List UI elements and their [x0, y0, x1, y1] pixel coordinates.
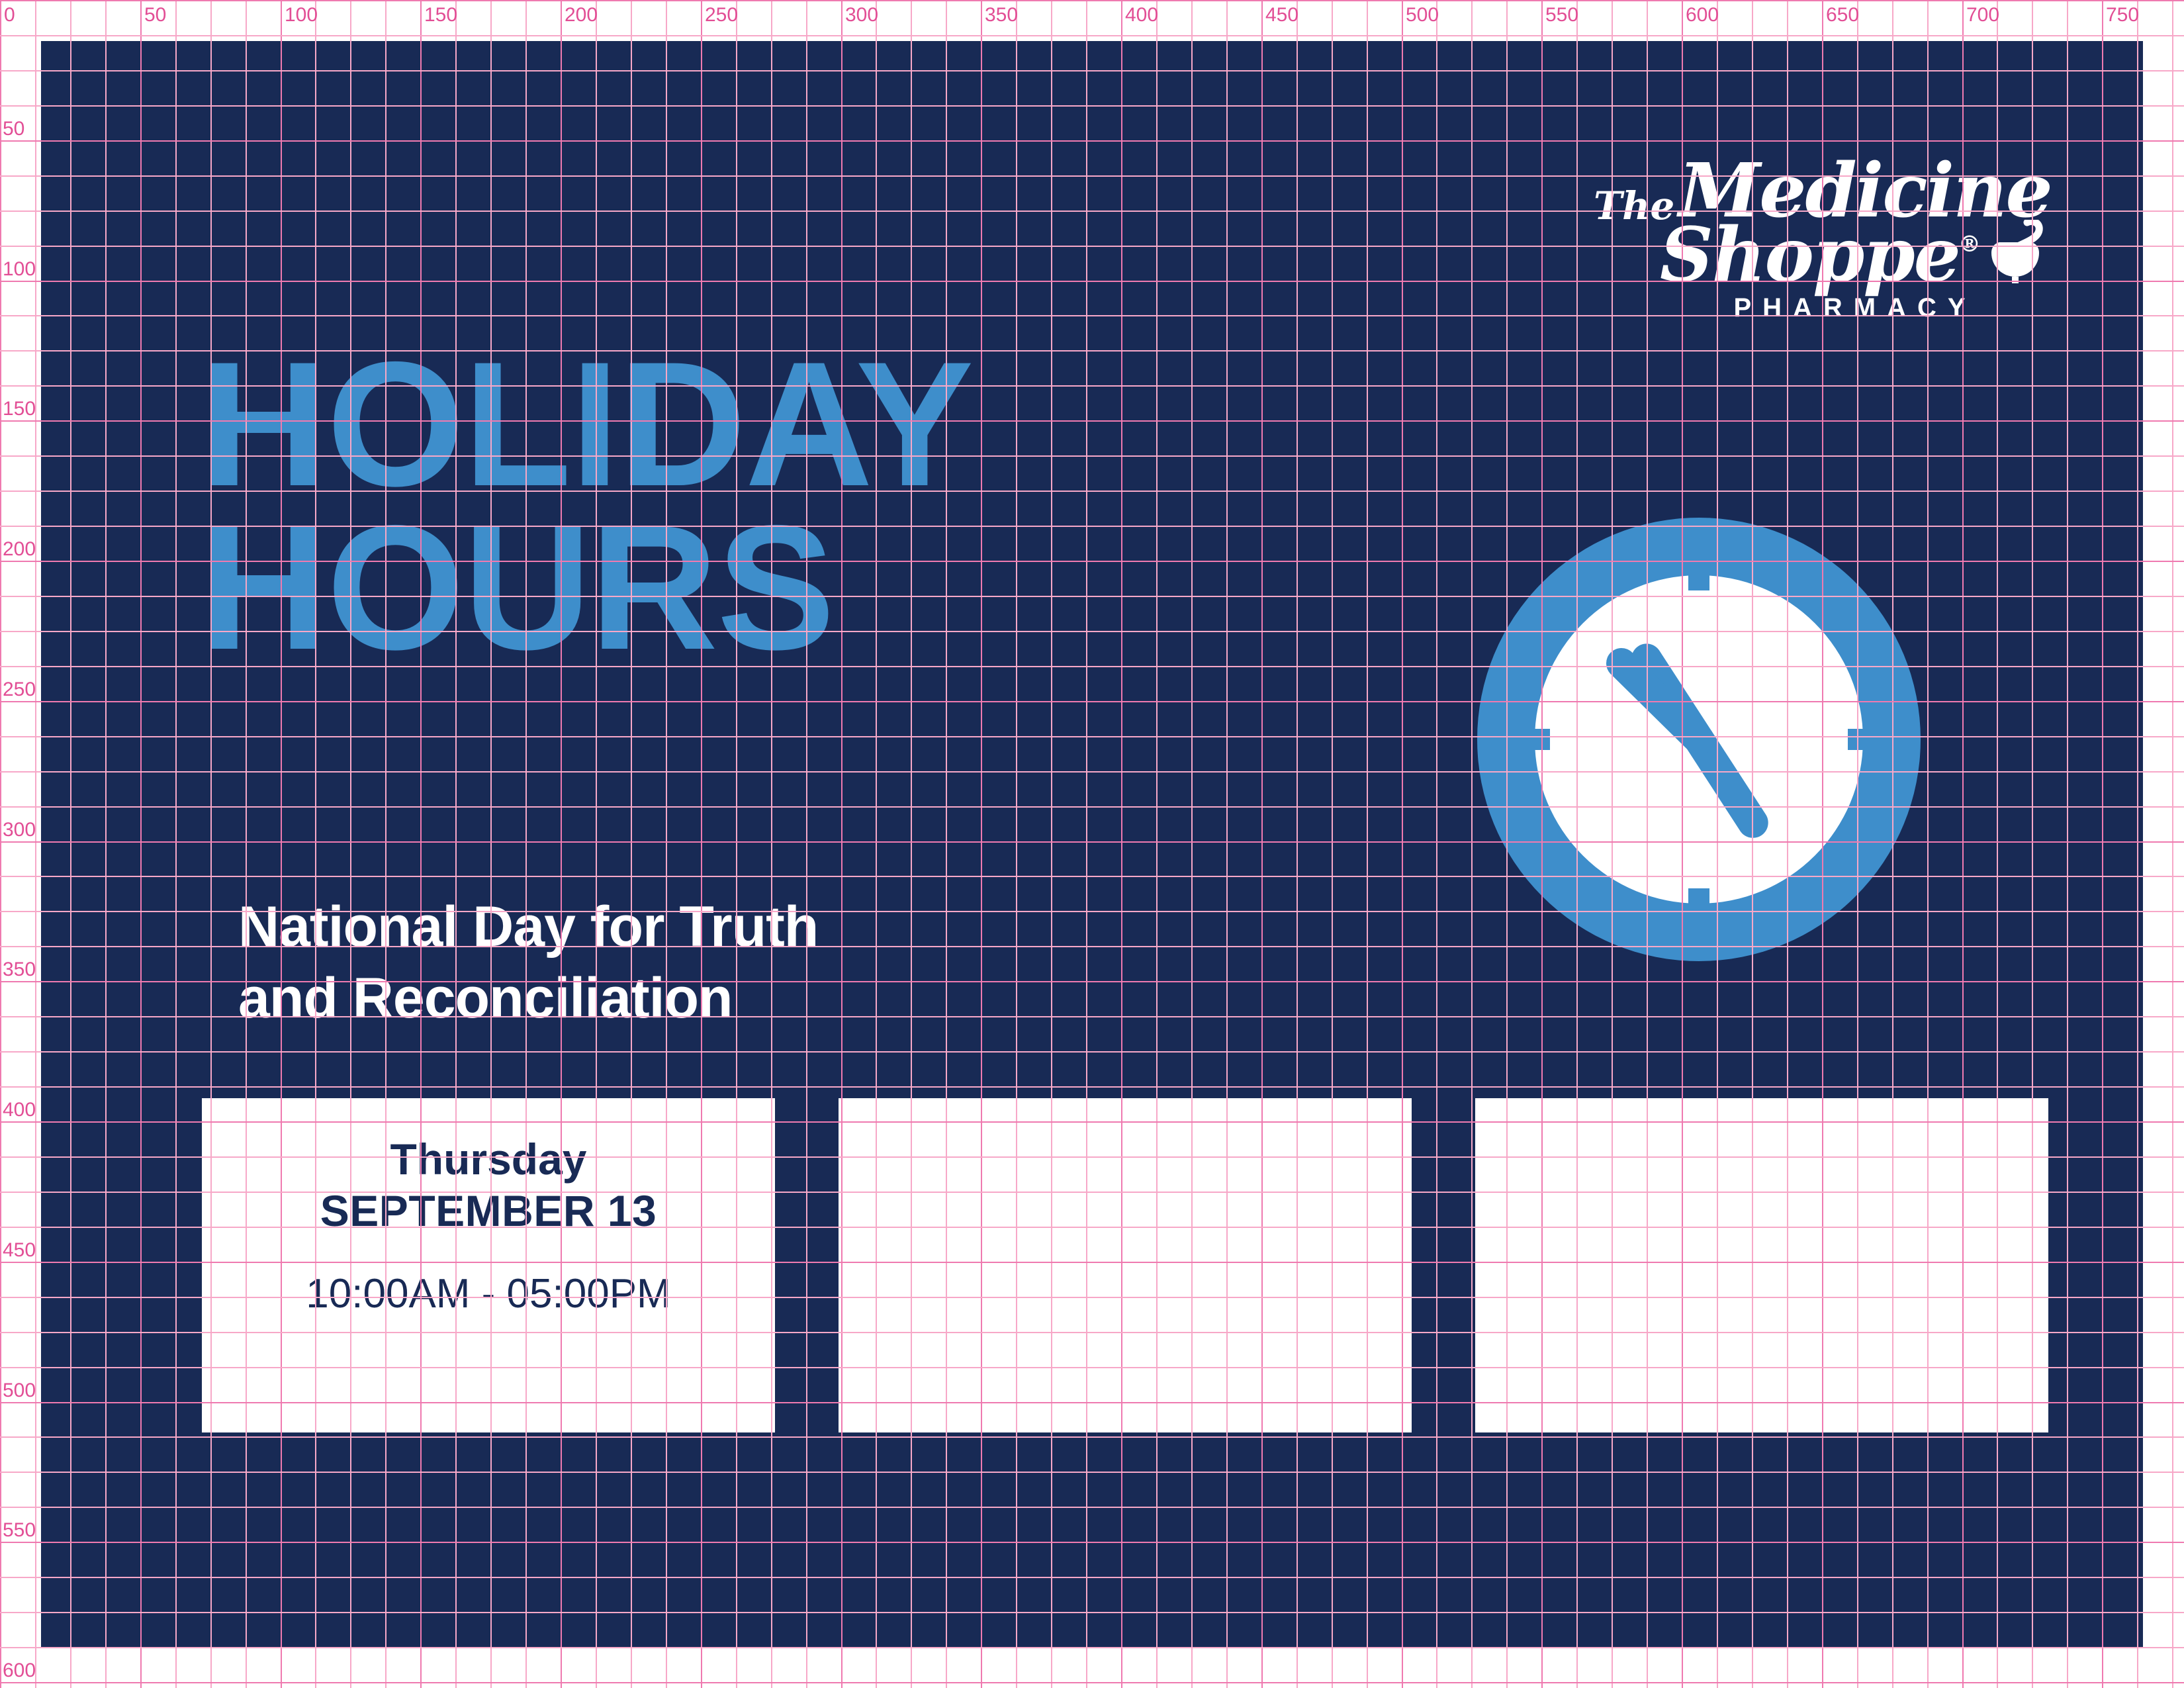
grid-line-vertical [0, 0, 1, 1688]
grid-line-vertical [2172, 0, 2173, 1688]
ruler-tick-label-y: 400 [3, 1099, 36, 1121]
card-date-label: SEPTEMBER 13 [202, 1186, 775, 1237]
ruler-tick-label-x: 700 [1966, 4, 1999, 26]
card-day-label: Thursday [202, 1134, 775, 1186]
subtitle-line-2: and Reconciliation [238, 963, 818, 1035]
ruler-tick-label-y: 450 [3, 1239, 36, 1262]
ruler-tick-label-x: 0 [4, 4, 15, 26]
grid-line-horizontal [0, 0, 2184, 1]
ruler-tick-label-y: 550 [3, 1519, 36, 1542]
ruler-tick-label-x: 200 [565, 4, 598, 26]
ruler-tick-label-x: 750 [2106, 4, 2139, 26]
ruler-tick-label-x: 250 [705, 4, 738, 26]
ruler-tick-label-y: 100 [3, 258, 36, 281]
ruler-tick-label-y: 150 [3, 398, 36, 420]
hours-card: Thursday SEPTEMBER 13 10:00AM - 05:00PM [202, 1098, 775, 1432]
holiday-name: National Day for Truth and Reconciliatio… [238, 892, 818, 1034]
ruler-tick-label-x: 650 [1826, 4, 1859, 26]
ruler-tick-label-y: 250 [3, 679, 36, 701]
ruler-tick-label-y: 300 [3, 819, 36, 841]
ruler-tick-label-x: 600 [1686, 4, 1719, 26]
headline-line-1: HOLIDAY [200, 342, 972, 506]
clock-icon [1471, 511, 1927, 968]
ruler-tick-label-x: 150 [424, 4, 457, 26]
ruler-tick-label-x: 550 [1545, 4, 1578, 26]
headline-line-2: HOURS [200, 506, 972, 669]
logo-shoppe-text: Shoppe [1660, 221, 1960, 289]
registered-trademark-icon: ® [1958, 231, 1981, 258]
subtitle-line-1: National Day for Truth [238, 892, 818, 963]
ruler-tick-label-x: 400 [1125, 4, 1158, 26]
grid-line-horizontal [0, 35, 2184, 36]
ruler-tick-label-y: 600 [3, 1660, 36, 1682]
page-title: HOLIDAY HOURS [200, 342, 972, 669]
ruler-tick-label-y: 50 [3, 118, 24, 140]
ruler-tick-label-x: 50 [144, 4, 166, 26]
grid-line-horizontal [0, 1647, 2184, 1648]
ruler-tick-label-y: 200 [3, 538, 36, 561]
grid-line-horizontal [0, 1682, 2184, 1683]
poster-canvas: The Medicine Shoppe ® PHARMACY HOLIDAY H… [41, 41, 2143, 1647]
ruler-tick-label-x: 300 [845, 4, 878, 26]
ruler-tick-label-x: 450 [1265, 4, 1298, 26]
hours-card [839, 1098, 1412, 1432]
ruler-tick-label-x: 500 [1406, 4, 1439, 26]
hours-card [1475, 1098, 2048, 1432]
logo-line-two: Shoppe ® [1594, 221, 2044, 289]
ruler-tick-label-y: 350 [3, 959, 36, 981]
ruler-tick-label-y: 500 [3, 1380, 36, 1402]
brand-logo: The Medicine Shoppe ® PHARMACY [1594, 157, 2044, 323]
ruler-tick-label-x: 350 [985, 4, 1018, 26]
card-hours-label: 10:00AM - 05:00PM [202, 1270, 775, 1317]
grid-line-vertical [35, 0, 36, 1688]
mortar-and-pestle-icon [1986, 220, 2043, 287]
ruler-tick-label-x: 100 [285, 4, 318, 26]
